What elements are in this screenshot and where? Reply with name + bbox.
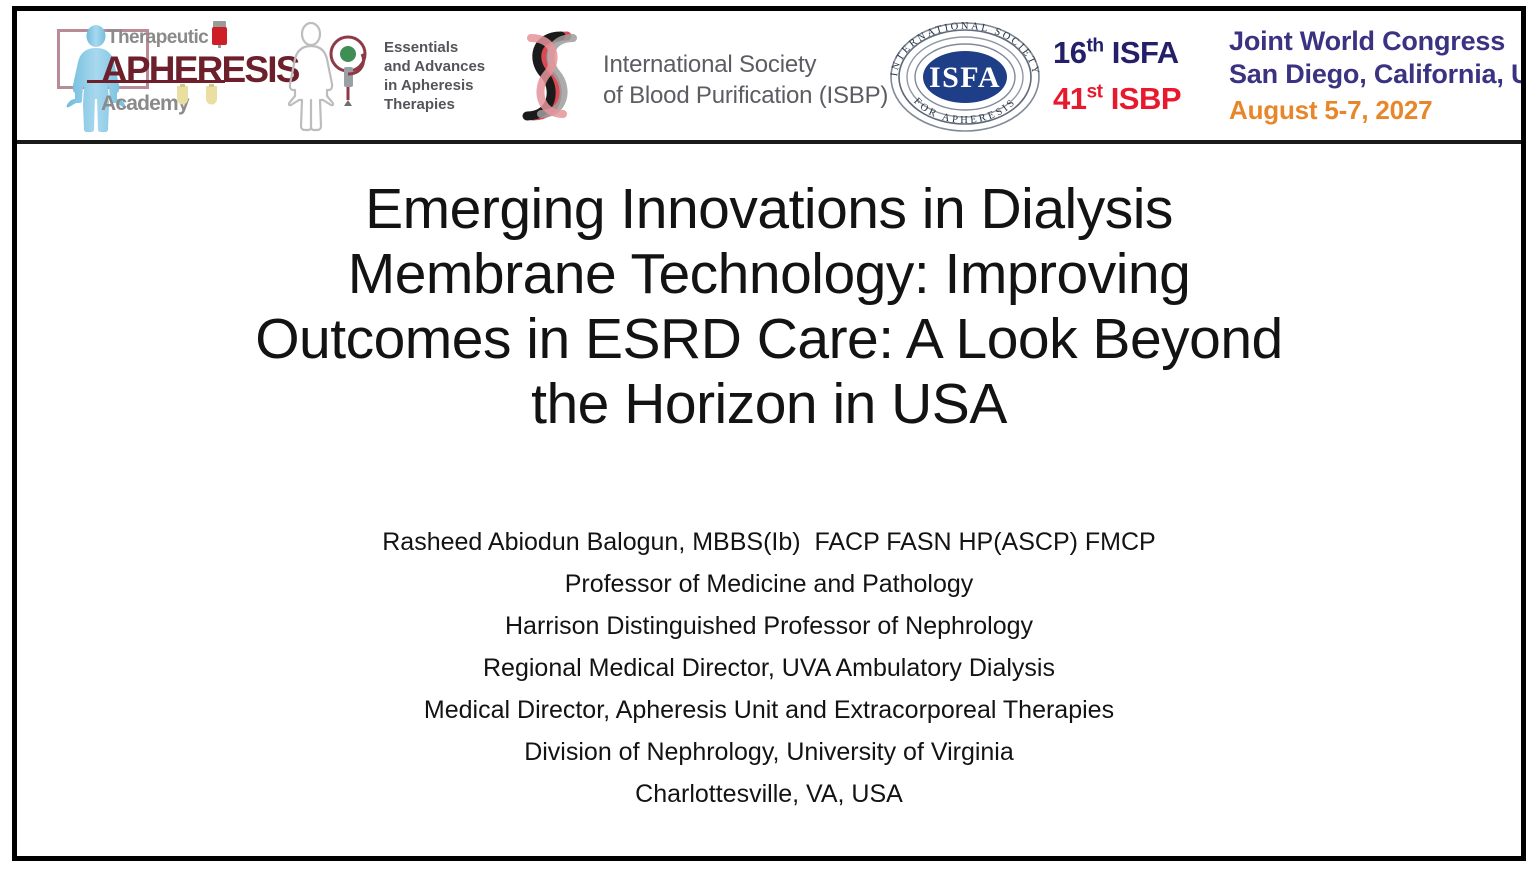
congress-header-banner: Therapeutic APHERESIS Academy [17,11,1521,144]
congress-date: August 5-7, 2027 [1229,95,1432,126]
collection-bag-icon-left [175,84,190,106]
congress-isbp-ordinal: 41 [1053,81,1086,116]
congress-edition-numbers: 16th ISFA 41st ISBP [1053,11,1225,142]
congress-isbp-suffix: st [1086,81,1102,102]
author-title-professor: Professor of Medicine and Pathology [127,563,1411,605]
slide-title-line-2: Membrane Technology: Improving [127,242,1411,307]
congress-isfa-edition: 16th ISFA [1053,35,1179,71]
slide-content-region: Emerging Innovations in Dialysis Membran… [17,144,1521,861]
logo-therapeutic-apheresis-academy: Therapeutic APHERESIS Academy [17,11,263,142]
logo-word-therapeutic: Therapeutic [107,27,208,49]
svg-text:ISFA: ISFA [929,61,1001,94]
congress-isfa-suffix: th [1086,35,1103,56]
congress-isfa-label: ISFA [1112,35,1179,70]
logo-essentials-advances-apheresis: Essentials and Advances in Apheresis The… [263,11,497,142]
isfa-seal-icon: ISFA INTERNATIONAL SOCIETY FOR APHERESIS [881,17,1049,135]
author-role-medical-director-apheresis: Medical Director, Apheresis Unit and Ext… [127,689,1411,731]
slide-title-line-1: Emerging Innovations in Dialysis [127,177,1411,242]
collection-bag-icon-right [204,84,219,106]
congress-title: Joint World Congress [1229,25,1505,58]
author-title-harrison-chair: Harrison Distinguished Professor of Neph… [127,605,1411,647]
presentation-slide: Therapeutic APHERESIS Academy [12,6,1526,861]
apheresis-circuit-icon [322,34,378,108]
slide-title: Emerging Innovations in Dialysis Membran… [127,177,1411,437]
slide-title-line-3: Outcomes in ESRD Care: A Look Beyond [127,307,1411,372]
isbp-infinity-ribbon-icon [507,26,593,126]
congress-isfa-ordinal: 16 [1053,35,1086,70]
logo-essentials-text: Essentials and Advances in Apheresis The… [384,38,485,114]
congress-details: Joint World Congress San Diego, Californ… [1225,11,1521,142]
author-affiliation-city: Charlottesville, VA, USA [127,773,1411,815]
author-affiliation-block: Rasheed Abiodun Balogun, MBBS(Ib) FACP F… [127,521,1411,815]
slide-title-line-4: the Horizon in USA [127,372,1411,437]
author-role-regional-medical-director: Regional Medical Director, UVA Ambulator… [127,647,1411,689]
logo-isbp-name: International Society of Blood Purificat… [603,49,888,111]
blood-bag-icon [211,20,228,48]
congress-location: San Diego, California, USA [1229,58,1521,91]
congress-isbp-label: ISBP [1111,81,1181,116]
logo-isfa-seal: ISFA INTERNATIONAL SOCIETY FOR APHERESIS [877,11,1053,142]
author-affiliation-division: Division of Nephrology, University of Vi… [127,731,1411,773]
congress-isbp-edition: 41st ISBP [1053,81,1181,117]
logo-isbp: International Society of Blood Purificat… [497,11,877,142]
author-name-credentials: Rasheed Abiodun Balogun, MBBS(Ib) FACP F… [127,521,1411,563]
